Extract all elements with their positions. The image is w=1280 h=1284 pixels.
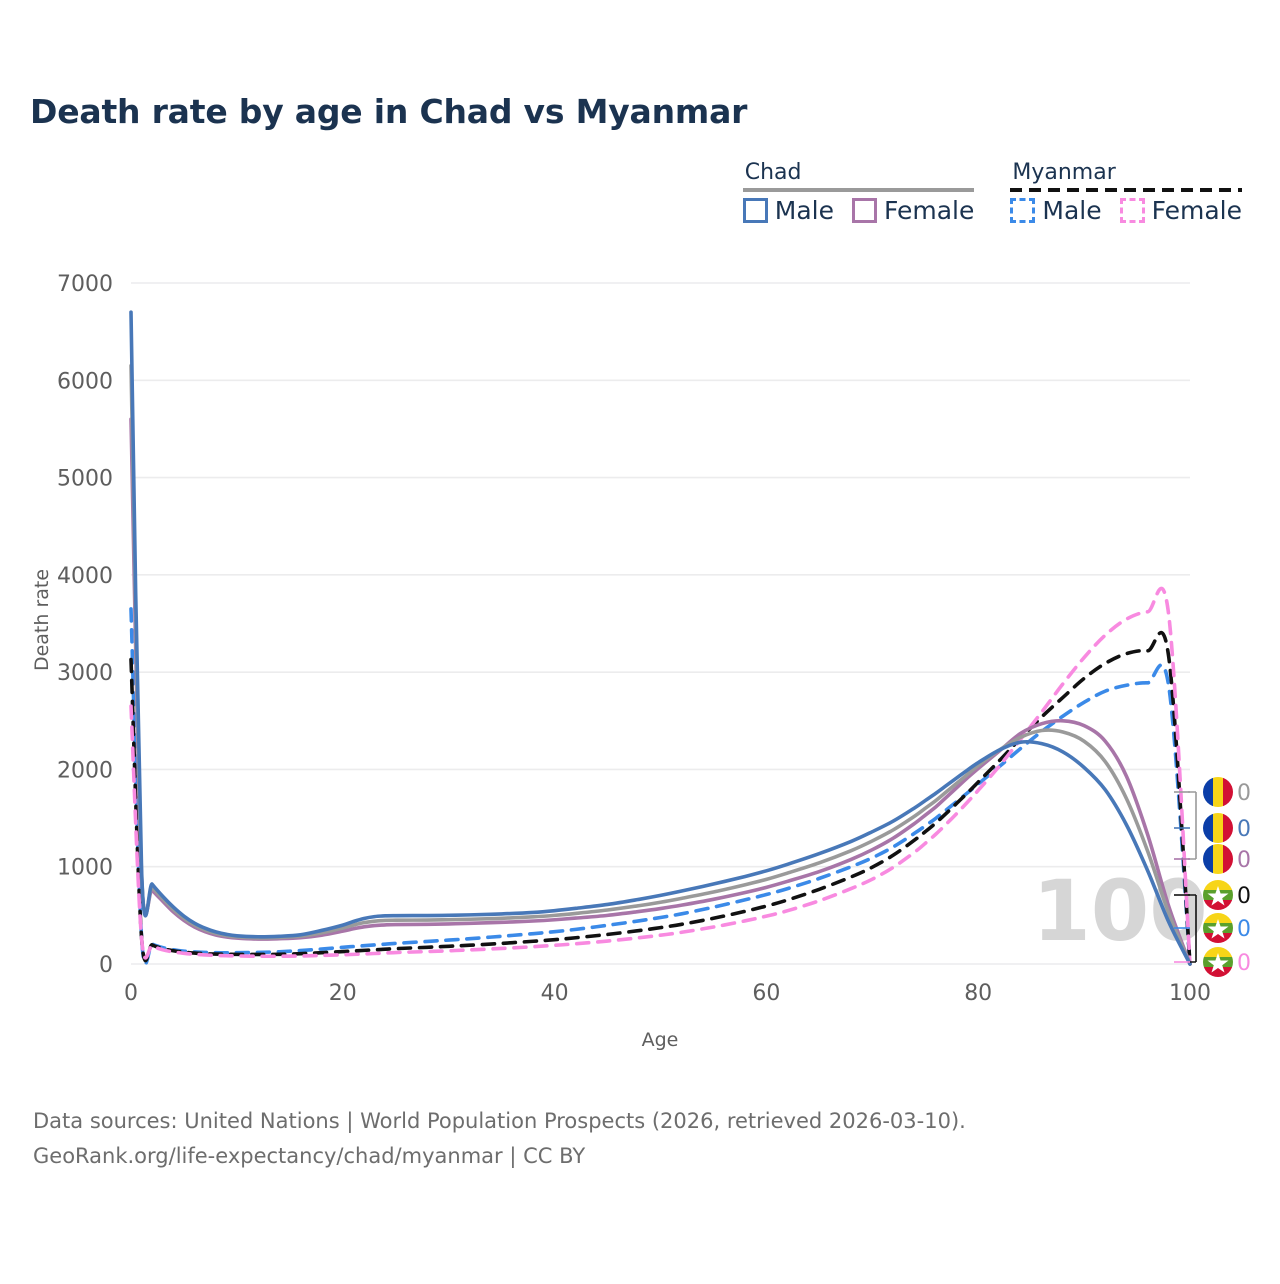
legend-label-myanmar-male: Male <box>1042 198 1101 223</box>
legend-group-rule-chad <box>743 188 975 192</box>
series-line-chad-male <box>131 312 1190 964</box>
legend-swatch-myanmar-male <box>1010 198 1035 223</box>
footer-line-1: Data sources: United Nations | World Pop… <box>33 1104 966 1139</box>
legend-item-myanmar-female[interactable]: Female <box>1120 198 1242 223</box>
series-line-myanmar-female <box>131 588 1190 964</box>
series-line-chad-total <box>131 366 1190 964</box>
legend-group-title-myanmar: Myanmar <box>1010 160 1117 188</box>
x-tick-label: 100 <box>1169 981 1211 1006</box>
legend-swatch-chad-male <box>743 198 768 223</box>
myanmar-flag <box>1203 880 1233 910</box>
end-label-item: 0 <box>1203 813 1251 843</box>
legend-swatch-myanmar-female <box>1120 198 1145 223</box>
chart-x-tick-labels: 020406080100 <box>124 981 1211 1006</box>
footer-sources: Data sources: United Nations | World Pop… <box>33 1104 966 1174</box>
x-tick-label: 40 <box>541 981 569 1006</box>
legend-label-chad-female: Female <box>884 198 974 223</box>
chad-bracket <box>1188 792 1196 859</box>
chart-series-group <box>131 312 1190 964</box>
legend-item-chad-female[interactable]: Female <box>852 198 974 223</box>
y-tick-label: 4000 <box>57 564 113 589</box>
legend-group-myanmar: Myanmar Male Female <box>1010 160 1242 223</box>
legend-group-title-chad: Chad <box>743 160 804 188</box>
end-label-item: 0 <box>1203 947 1251 977</box>
end-label-item: 0 <box>1203 913 1251 943</box>
y-tick-label: 3000 <box>57 661 113 686</box>
myanmar-flag <box>1203 913 1233 943</box>
y-tick-label: 6000 <box>57 369 113 394</box>
chart-y-tick-labels: 01000200030004000500060007000 <box>57 272 113 978</box>
series-line-chad-female <box>131 419 1190 964</box>
end-label-item: 0 <box>1203 777 1251 807</box>
chad-flag <box>1203 777 1233 807</box>
y-tick-label: 5000 <box>57 467 113 492</box>
legend-label-myanmar-female: Female <box>1152 198 1242 223</box>
legend-swatch-chad-female <box>852 198 877 223</box>
y-tick-label: 2000 <box>57 758 113 783</box>
y-tick-label: 0 <box>99 953 113 978</box>
page-title: Death rate by age in Chad vs Myanmar <box>30 92 747 131</box>
end-label-value: 0 <box>1237 917 1251 942</box>
legend-group-rule-myanmar <box>1010 188 1242 192</box>
end-label-value: 0 <box>1237 884 1251 909</box>
chart-end-labels: 000000 <box>1174 777 1251 977</box>
chart-watermark: 100 <box>1032 862 1207 960</box>
legend-item-myanmar-male[interactable]: Male <box>1010 198 1101 223</box>
end-label-value: 0 <box>1237 848 1251 873</box>
chad-flag <box>1203 844 1233 874</box>
end-label-value: 0 <box>1237 781 1251 806</box>
chart-gridlines <box>131 283 1190 964</box>
series-line-myanmar-total <box>131 633 1190 964</box>
x-axis-title: Age <box>642 1029 679 1051</box>
x-tick-label: 60 <box>752 981 780 1006</box>
x-tick-label: 80 <box>964 981 992 1006</box>
x-tick-label: 20 <box>329 981 357 1006</box>
legend-item-chad-male[interactable]: Male <box>743 198 834 223</box>
end-label-item: 0 <box>1203 880 1251 910</box>
end-label-value: 0 <box>1237 817 1251 842</box>
legend-group-chad: Chad Male Female <box>743 160 975 223</box>
x-tick-label: 0 <box>124 981 138 1006</box>
y-tick-label: 1000 <box>57 856 113 881</box>
end-label-item: 0 <box>1203 844 1251 874</box>
myanmar-flag <box>1203 947 1233 977</box>
y-axis-title: Death rate <box>31 569 53 671</box>
footer-line-2: GeoRank.org/life-expectancy/chad/myanmar… <box>33 1139 966 1174</box>
myanmar-bracket <box>1188 895 1196 962</box>
legend-label-chad-male: Male <box>775 198 834 223</box>
chad-flag <box>1203 813 1233 843</box>
y-tick-label: 7000 <box>57 272 113 297</box>
chart-legend: Chad Male Female Myanmar Male Female <box>743 160 1242 223</box>
series-line-myanmar-male <box>131 609 1190 964</box>
end-label-value: 0 <box>1237 951 1251 976</box>
